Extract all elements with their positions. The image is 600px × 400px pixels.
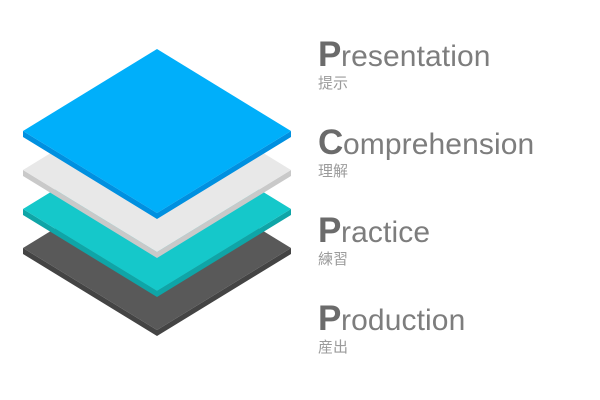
label-initial-production: P <box>318 299 341 338</box>
plate-presentation-top <box>23 49 291 213</box>
label-japanese-presentation: 提示 <box>318 75 600 93</box>
label-initial-presentation: P <box>318 35 341 74</box>
label-title-comprehension: Comprehension <box>318 126 600 162</box>
label-japanese-production: 産出 <box>318 339 600 357</box>
label-initial-practice: P <box>318 211 341 250</box>
label-title-practice: Practice <box>318 214 600 250</box>
label-group-practice[interactable]: Practice 練習 <box>318 214 600 269</box>
label-group-comprehension[interactable]: Comprehension 理解 <box>318 126 600 181</box>
label-japanese-practice: 練習 <box>318 251 600 269</box>
label-rest-production: roduction <box>341 304 465 337</box>
label-group-presentation[interactable]: Presentation 提示 <box>318 38 600 93</box>
ppp-layer-stack <box>0 0 310 400</box>
layer-presentation-shape[interactable] <box>0 0 310 400</box>
label-rest-presentation: resentation <box>341 40 491 73</box>
label-initial-comprehension: C <box>318 123 343 162</box>
label-column: Presentation 提示 Comprehension 理解 Practic… <box>318 0 600 400</box>
label-title-presentation: Presentation <box>318 38 600 74</box>
label-rest-comprehension: omprehension <box>343 128 534 161</box>
diagram-canvas: Presentation 提示 Comprehension 理解 Practic… <box>0 0 600 400</box>
label-rest-practice: ractice <box>341 216 430 249</box>
plate-presentation <box>23 49 291 219</box>
label-title-production: Production <box>318 302 600 338</box>
label-japanese-comprehension: 理解 <box>318 163 600 181</box>
label-group-production[interactable]: Production 産出 <box>318 302 600 357</box>
